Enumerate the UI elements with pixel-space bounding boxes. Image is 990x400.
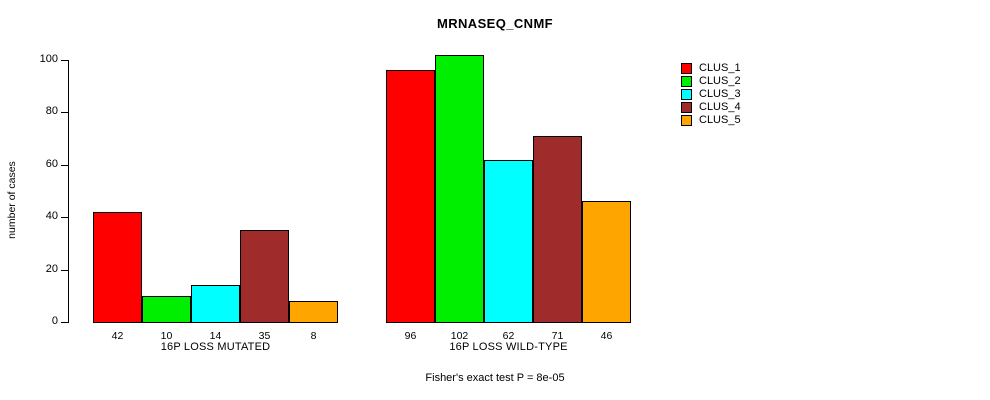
bar-clus_3-group-2 [484, 160, 533, 323]
legend-item-clus_2: CLUS_2 [681, 75, 741, 88]
group-title-1: 16P LOSS MUTATED [93, 341, 338, 353]
bar-clus_2-group-1 [142, 296, 191, 323]
y-axis-label: number of cases [6, 130, 18, 270]
legend-item-clus_5: CLUS_5 [681, 114, 741, 127]
bar-clus_5-group-1 [289, 301, 338, 323]
group-title-2: 16P LOSS WILD-TYPE [386, 341, 631, 353]
bar-clus_4-group-2 [533, 136, 582, 323]
y-tick-label-80: 80 [18, 106, 58, 117]
legend-swatch-icon [681, 89, 692, 100]
bar-clus_2-group-2 [435, 55, 484, 323]
statistics-footnote: Fisher's exact test P = 8e-05 [0, 372, 990, 384]
y-tick-label-60: 60 [18, 159, 58, 170]
y-tick-20 [61, 270, 68, 271]
y-tick-label-100: 100 [18, 54, 58, 65]
legend-label: CLUS_3 [699, 89, 741, 100]
y-tick-label-0: 0 [18, 316, 58, 327]
bar-clus_1-group-2 [386, 70, 435, 323]
legend-label: CLUS_2 [699, 76, 741, 87]
legend-item-clus_3: CLUS_3 [681, 88, 741, 101]
legend-label: CLUS_4 [699, 102, 741, 113]
y-axis-line [68, 60, 69, 323]
legend-item-clus_1: CLUS_1 [681, 62, 741, 75]
legend-item-clus_4: CLUS_4 [681, 101, 741, 114]
legend-swatch-icon [681, 76, 692, 87]
y-tick-label-40: 40 [18, 211, 58, 222]
page-title: MRNASEQ_CNMF [0, 16, 990, 31]
bar-clus_5-group-2 [582, 201, 631, 323]
legend-label: CLUS_1 [699, 63, 741, 74]
y-tick-60 [61, 165, 68, 166]
y-tick-40 [61, 217, 68, 218]
bar-clus_1-group-1 [93, 212, 142, 323]
y-tick-label-20: 20 [18, 264, 58, 275]
legend-label: CLUS_5 [699, 115, 741, 126]
y-tick-100 [61, 60, 68, 61]
bar-clus_3-group-1 [191, 285, 240, 323]
legend-swatch-icon [681, 102, 692, 113]
y-tick-80 [61, 112, 68, 113]
y-tick-0 [61, 322, 68, 323]
legend-swatch-icon [681, 115, 692, 126]
legend: CLUS_1CLUS_2CLUS_3CLUS_4CLUS_5 [681, 62, 741, 127]
legend-swatch-icon [681, 63, 692, 74]
chart-canvas: MRNASEQ_CNMF 020406080100 number of case… [0, 0, 990, 400]
bar-clus_4-group-1 [240, 230, 289, 323]
